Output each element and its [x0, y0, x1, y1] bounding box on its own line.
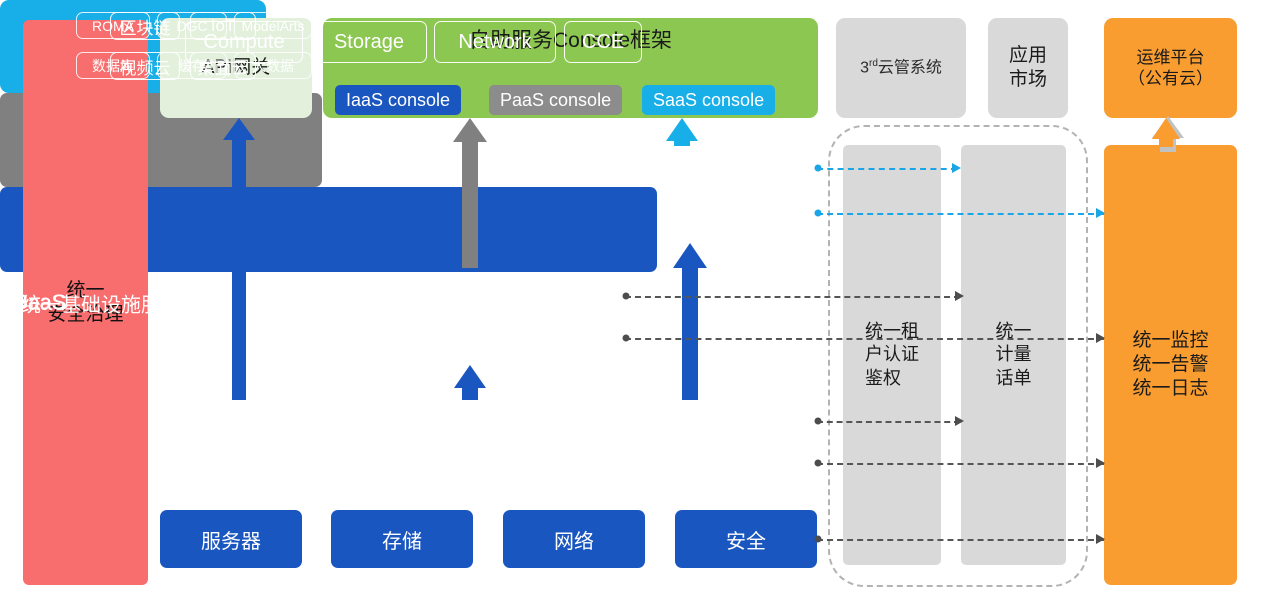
- infra-chip-storage[interactable]: Storage: [311, 21, 427, 63]
- third-cloud-suffix: 云管系统: [878, 59, 942, 76]
- saas-console-chip[interactable]: SaaS console: [642, 85, 775, 115]
- dashed-line-saas-to-ops-dot: [815, 210, 822, 217]
- paas-chip-roma[interactable]: ROMA: [76, 12, 150, 39]
- dashed-line-paas-to-auth: [625, 296, 960, 298]
- arrow-saas-to-console: [666, 118, 698, 146]
- dashed-line-resources-to-ops-dot: [815, 536, 822, 543]
- third-cloud-sup: rd: [869, 58, 878, 69]
- dashed-line-infra-to-ops-arrow: [1096, 458, 1105, 468]
- app-market-box[interactable]: 应用 市场: [988, 18, 1068, 118]
- ops-platform-box[interactable]: 运维平台 （公有云）: [1104, 18, 1237, 118]
- dashed-line-paas-to-auth-arrow: [955, 291, 964, 301]
- dashed-line-infra-to-auth: [817, 421, 960, 423]
- dashed-line-paas-to-ops: [625, 338, 1104, 340]
- dashed-line-saas-to-auth-arrow: [952, 163, 961, 173]
- ops-main-line2: 统一告警: [1132, 353, 1208, 377]
- dashed-line-resources-to-ops-arrow: [1096, 534, 1105, 544]
- dashed-line-saas-to-ops-arrow: [1096, 208, 1105, 218]
- paas-console-chip[interactable]: PaaS console: [489, 85, 622, 115]
- arrow-infra-to-paas: [454, 365, 486, 400]
- app-market-line1: 应用: [1009, 44, 1047, 68]
- ops-main-line1: 统一监控: [1132, 329, 1208, 353]
- app-market-line2: 市场: [1009, 68, 1047, 92]
- iaas-console-chip[interactable]: IaaS console: [335, 85, 461, 115]
- metering-line3: 话单: [996, 367, 1032, 390]
- infra-chip-compute[interactable]: Compute: [185, 21, 303, 63]
- arrow-infra-to-saas: [673, 243, 707, 400]
- resource-box-storage[interactable]: 存储: [331, 510, 473, 568]
- resource-box-server[interactable]: 服务器: [160, 510, 302, 568]
- third-cloud-prefix: 3: [860, 59, 869, 76]
- dashed-line-saas-to-auth: [817, 168, 957, 170]
- dashed-line-paas-to-ops-arrow: [1096, 333, 1105, 343]
- dashed-line-saas-to-auth-dot: [815, 165, 822, 172]
- infra-label: 统一基础设施服务: [21, 288, 181, 317]
- metering-billing-column: 统一 计量 话单: [961, 145, 1066, 565]
- dashed-line-paas-to-auth-dot: [623, 293, 630, 300]
- tenant-auth-column: 统一租 户认证 鉴权: [843, 145, 941, 565]
- infra-chip-network[interactable]: Network: [434, 21, 556, 63]
- tenant-auth-line3: 鉴权: [865, 367, 919, 390]
- dashed-line-infra-to-ops: [817, 463, 1104, 465]
- ops-monitoring-column: 统一监控 统一告警 统一日志: [1104, 145, 1237, 585]
- ops-top-line1: 运维平台: [1128, 47, 1213, 68]
- dashed-line-infra-to-auth-arrow: [955, 416, 964, 426]
- paas-chip-database[interactable]: 数据库: [76, 52, 150, 79]
- arrow-ops-main-to-ops-top: [1152, 118, 1180, 147]
- dashed-line-saas-to-ops: [817, 213, 1104, 215]
- resource-box-security[interactable]: 安全: [675, 510, 817, 568]
- third-party-cloud-mgmt-box[interactable]: 3rd云管系统: [836, 18, 966, 118]
- architecture-diagram: 统一 安全治理 API网关 自助服务Console框架 IaaS console…: [0, 0, 1265, 605]
- ops-main-line3: 统一日志: [1132, 377, 1208, 401]
- dashed-line-infra-to-auth-dot: [815, 418, 822, 425]
- ops-top-line2: （公有云）: [1128, 68, 1213, 89]
- dashed-line-infra-to-ops-dot: [815, 460, 822, 467]
- dashed-line-resources-to-ops: [817, 539, 1104, 541]
- tenant-auth-line2: 户认证: [865, 343, 919, 366]
- resource-box-network[interactable]: 网络: [503, 510, 645, 568]
- infra-chip-cce[interactable]: CCE: [564, 21, 642, 63]
- dashed-line-paas-to-ops-dot: [623, 335, 630, 342]
- metering-line2: 计量: [996, 343, 1032, 366]
